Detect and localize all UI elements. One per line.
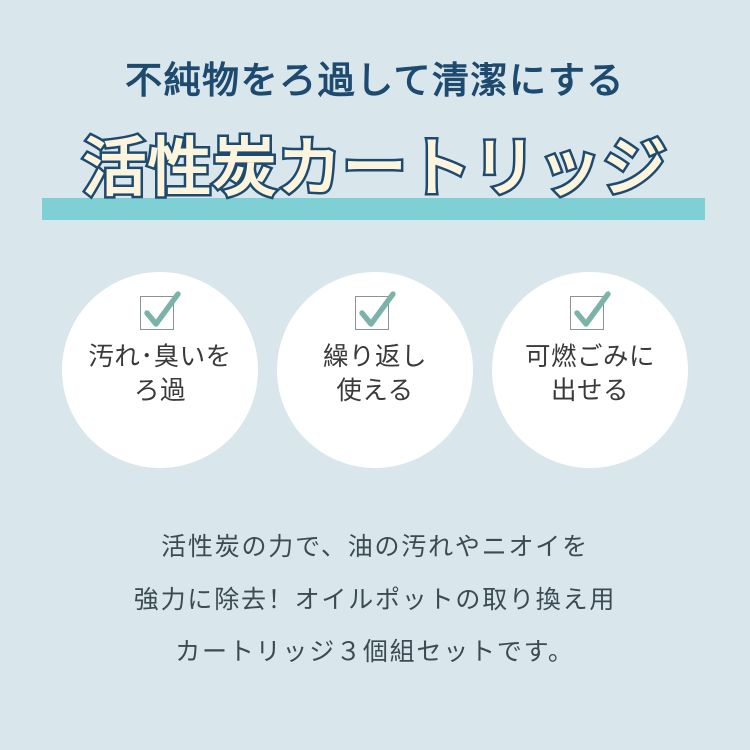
description-line-3: カートリッジ３個組セットです。 bbox=[0, 626, 750, 679]
description-line-1: 活性炭の力で、油の汚れやニオイを bbox=[0, 521, 750, 574]
feature-circle-1: 汚れ･臭いを ろ過 bbox=[62, 272, 258, 468]
page-title: 活性炭カートリッジ bbox=[0, 131, 750, 207]
feature-label-3: 可燃ごみに 出せる bbox=[525, 341, 655, 409]
check-mark-icon-2 bbox=[354, 291, 396, 333]
feature-label-3-line1: 可燃ごみに bbox=[525, 341, 655, 375]
feature-label-1-line2: ろ過 bbox=[88, 375, 231, 409]
feature-label-3-line2: 出せる bbox=[525, 375, 655, 409]
promo-poster: 不純物をろ過して清潔にする 活性炭カートリッジ 汚れ･臭いを ろ過 bbox=[0, 0, 750, 750]
product-description: 活性炭の力で、油の汚れやニオイを 強力に除去！オイルポットの取り換え用 カートリ… bbox=[0, 521, 750, 679]
check-mark-icon-3 bbox=[569, 291, 611, 333]
feature-label-2: 繰り返し 使える bbox=[323, 341, 427, 409]
title-block: 活性炭カートリッジ bbox=[0, 131, 750, 226]
feature-circle-group: 汚れ･臭いを ろ過 繰り返し 使える bbox=[0, 272, 750, 468]
description-line-2: 強力に除去！オイルポットの取り換え用 bbox=[0, 574, 750, 627]
feature-circle-3: 可燃ごみに 出せる bbox=[492, 272, 688, 468]
checkbox-checked-icon-1 bbox=[139, 291, 181, 331]
page-headline: 不純物をろ過して清潔にする bbox=[0, 62, 750, 99]
feature-label-1-line1: 汚れ･臭いを bbox=[88, 341, 231, 375]
feature-label-1: 汚れ･臭いを ろ過 bbox=[88, 341, 231, 409]
feature-circle-2: 繰り返し 使える bbox=[277, 272, 473, 468]
checkbox-checked-icon-2 bbox=[354, 291, 396, 331]
checkbox-checked-icon-3 bbox=[569, 291, 611, 331]
feature-label-2-line1: 繰り返し bbox=[323, 341, 427, 375]
check-mark-icon-1 bbox=[139, 291, 181, 333]
feature-label-2-line2: 使える bbox=[323, 375, 427, 409]
